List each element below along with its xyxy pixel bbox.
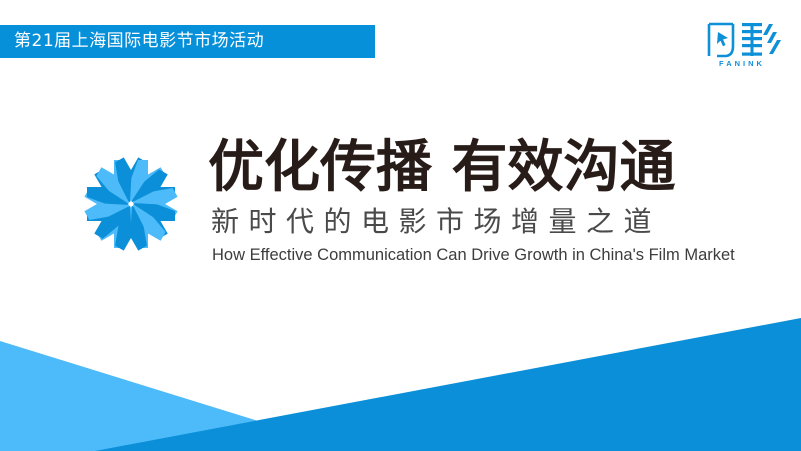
page-title: 优化传播 有效沟通 bbox=[208, 136, 768, 200]
brand-logo: FANINK bbox=[699, 16, 785, 68]
ying-strokes-glyph bbox=[763, 24, 781, 54]
event-banner: 第21届上海国际电影节市场活动 bbox=[0, 25, 375, 58]
subtitle-chinese: 新时代的电影市场增量之道 bbox=[208, 202, 768, 242]
circle-mark-svg bbox=[45, 112, 217, 292]
ying-glyph bbox=[742, 23, 762, 56]
circular-chevron-burst-icon bbox=[45, 112, 217, 292]
presentation-slide: 第21届上海国际电影节市场活动 bbox=[0, 0, 801, 451]
event-banner-label: 第21届上海国际电影节市场活动 bbox=[14, 33, 264, 50]
bottom-decoration bbox=[0, 310, 801, 451]
title-block: 优化传播 有效沟通 新时代的电影市场增量之道 How Effective Com… bbox=[208, 136, 768, 266]
brand-wordmark: FANINK bbox=[699, 59, 785, 68]
bottom-decoration-svg bbox=[0, 310, 801, 451]
cursor-arrow-glyph bbox=[717, 32, 728, 46]
subtitle-english: How Effective Communication Can Drive Gr… bbox=[208, 244, 768, 266]
